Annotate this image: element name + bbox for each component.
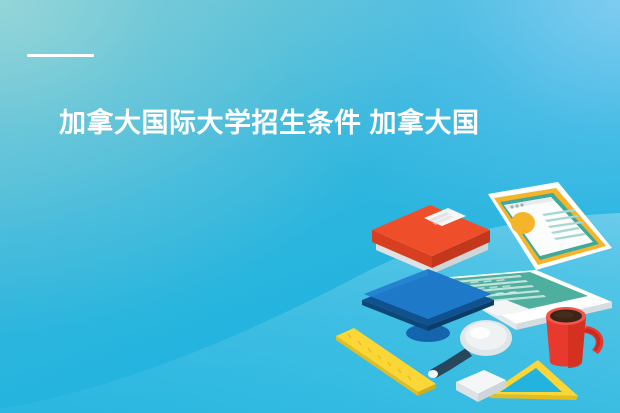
- decorative-dash: [27, 54, 94, 57]
- page-title: 加拿大国际大学招生条件 加拿大国: [59, 106, 619, 140]
- coffee-mug-icon: [546, 307, 603, 368]
- banner-image: 加拿大国际大学招生条件 加拿大国: [0, 0, 620, 413]
- book-icon: [372, 205, 490, 274]
- desk-illustration: [320, 178, 620, 413]
